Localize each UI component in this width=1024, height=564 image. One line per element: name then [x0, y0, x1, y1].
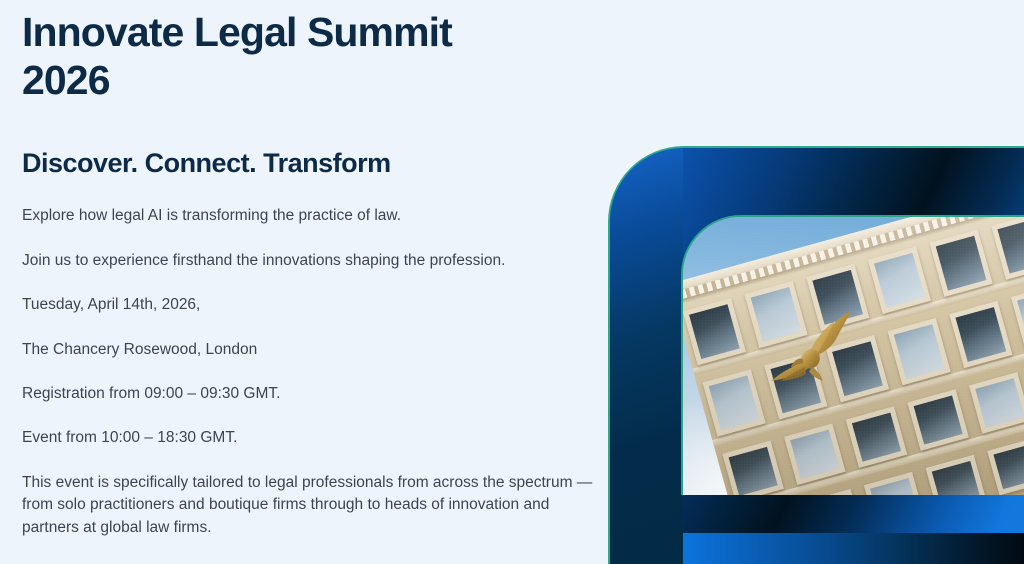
event-venue-photo — [681, 215, 1024, 495]
decorative-left-strip — [610, 148, 683, 564]
decorative-bottom-band — [683, 533, 1024, 564]
photo-canvas — [683, 217, 1024, 495]
registration-time: Registration from 09:00 – 09:30 GMT. — [22, 383, 597, 405]
hero-visual — [608, 146, 1024, 564]
hero-text-column: Innovate Legal Summit 2026 Discover. Con… — [22, 0, 602, 539]
event-venue: The Chancery Rosewood, London — [22, 339, 597, 361]
hero-description-block: Explore how legal AI is transforming the… — [22, 179, 602, 539]
page-title: Innovate Legal Summit 2026 — [22, 0, 522, 105]
audience-description: This event is specifically tailored to l… — [22, 472, 597, 539]
hero-subtitle: Discover. Connect. Transform — [22, 105, 602, 179]
event-date: Tuesday, April 14th, 2026, — [22, 294, 597, 316]
intro-line: Explore how legal AI is transforming the… — [22, 205, 597, 227]
event-landing-page: Innovate Legal Summit 2026 Discover. Con… — [0, 0, 1024, 564]
eagle-sculpture-icon — [765, 309, 857, 387]
invitation-line: Join us to experience firsthand the inno… — [22, 250, 597, 272]
event-time: Event from 10:00 – 18:30 GMT. — [22, 427, 597, 449]
